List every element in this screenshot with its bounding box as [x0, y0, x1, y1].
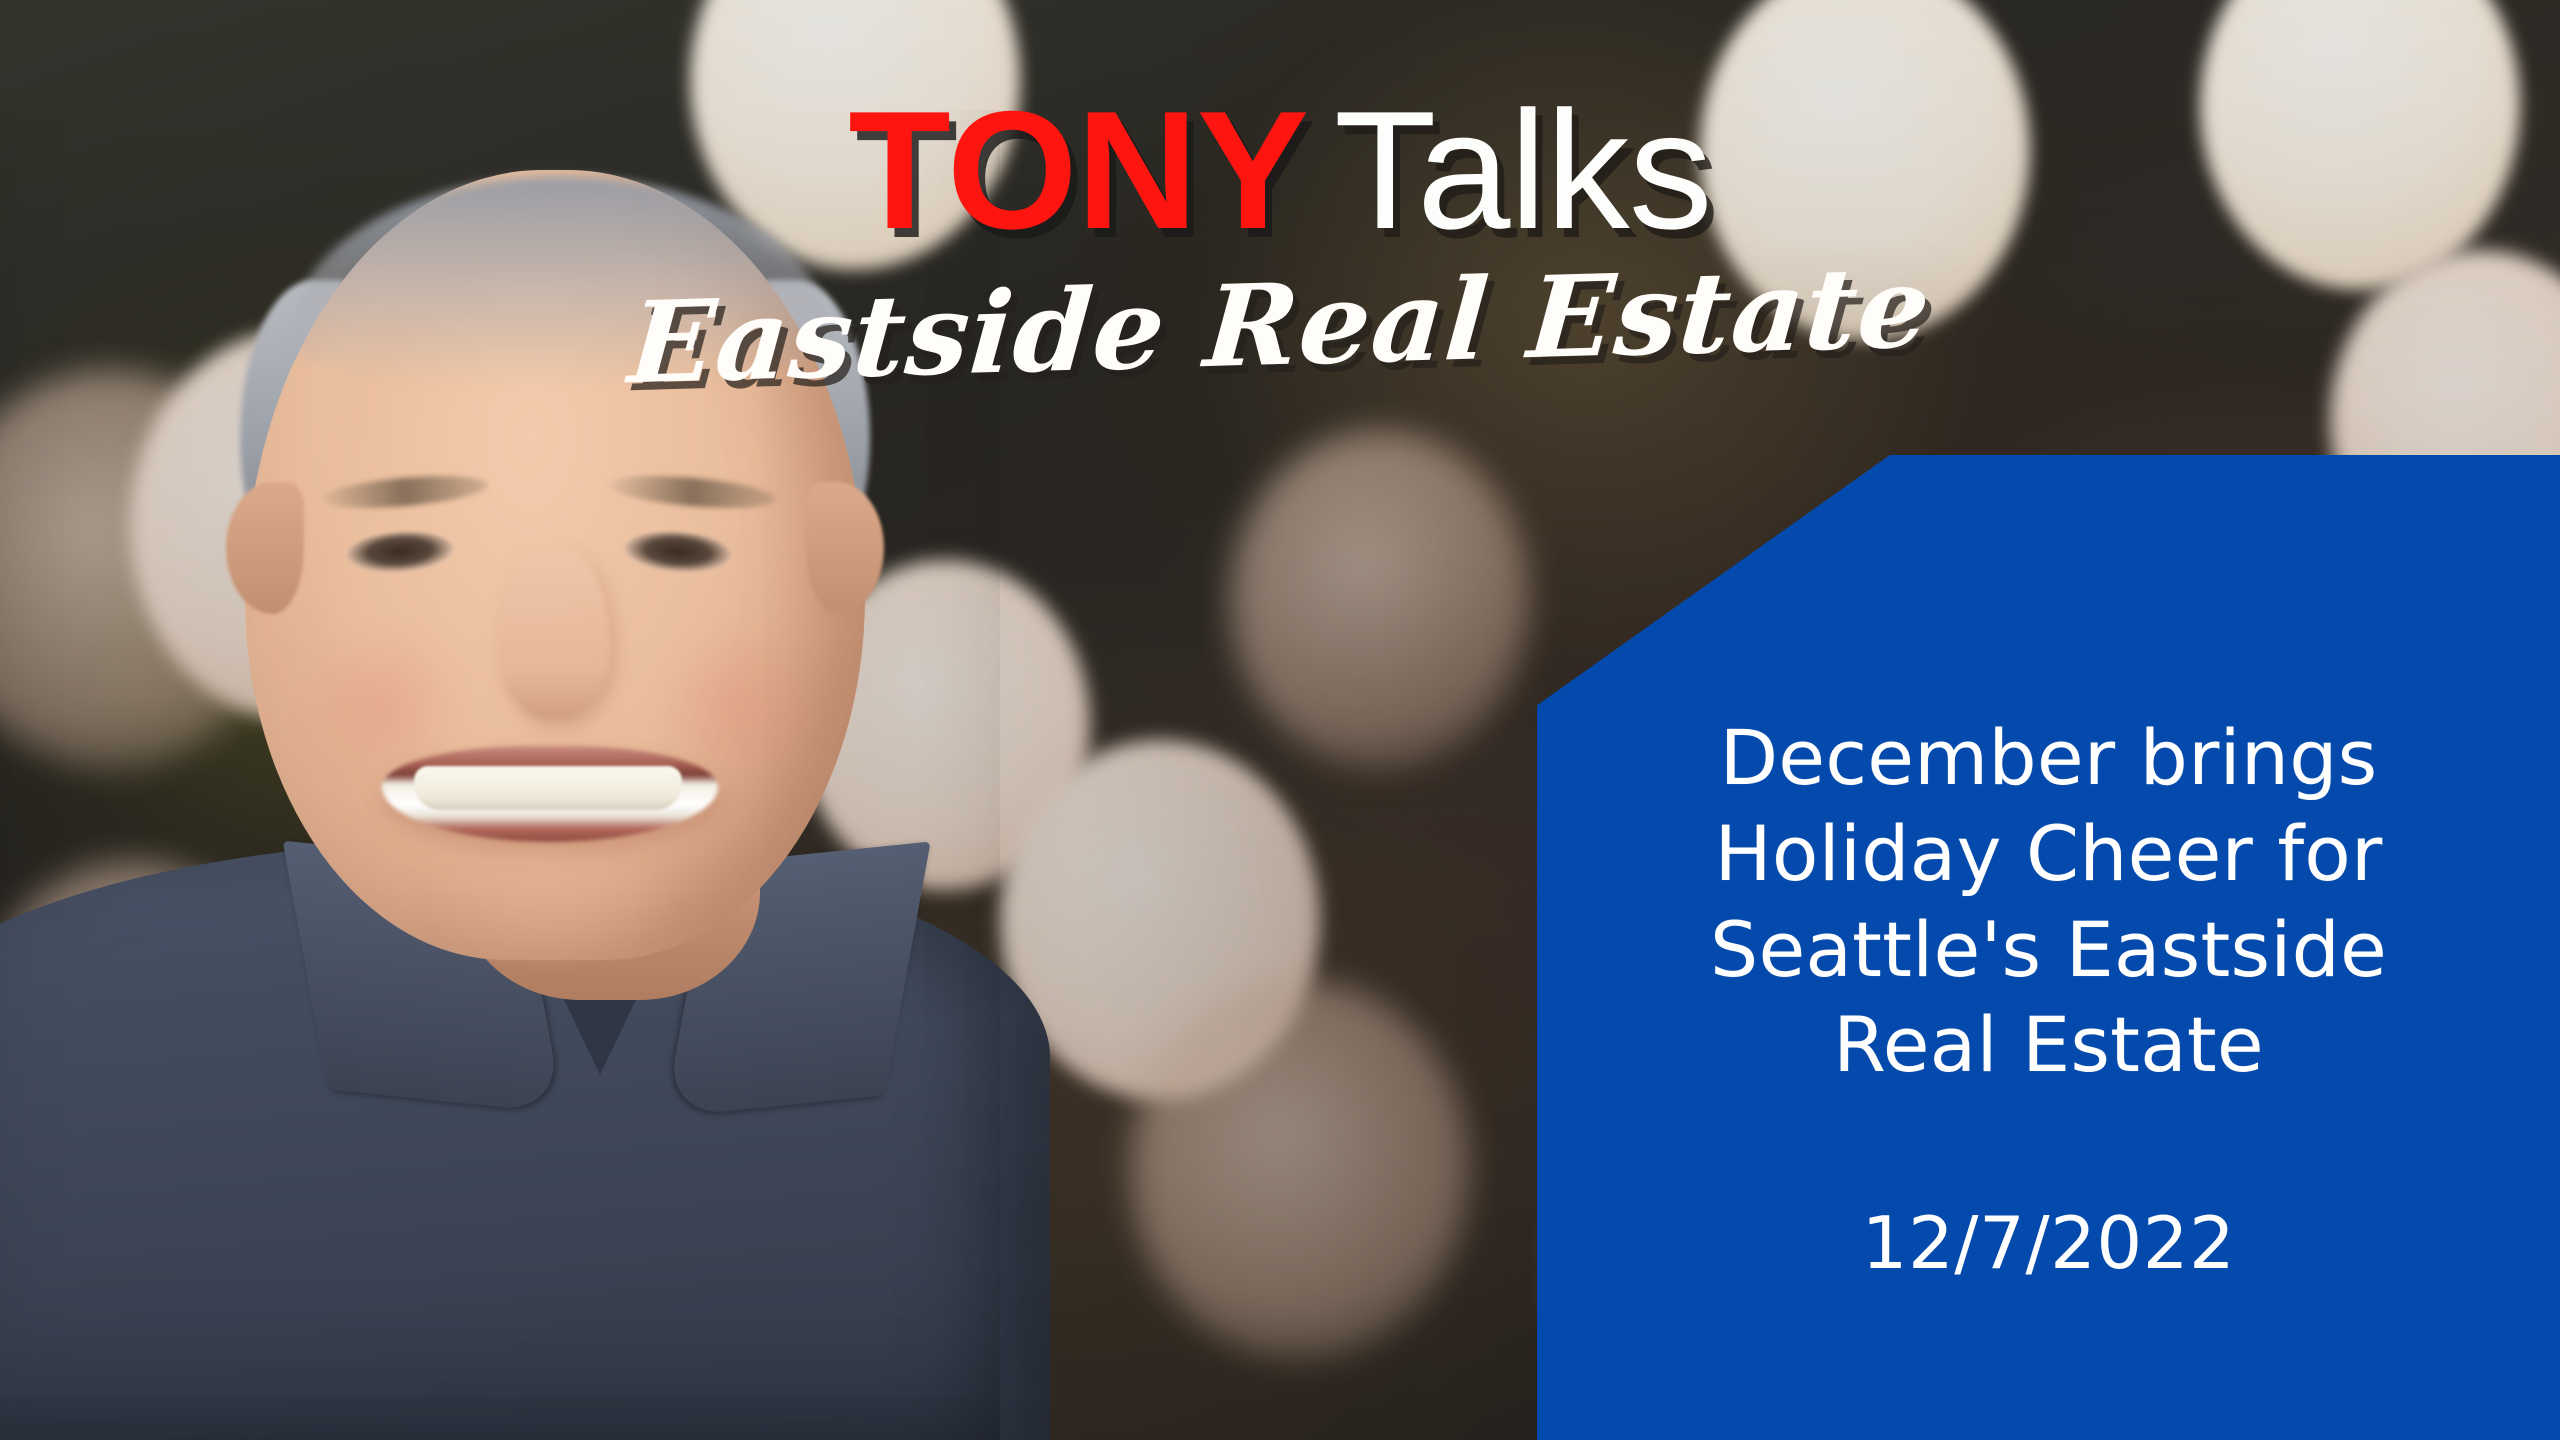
cheek-right — [652, 630, 822, 780]
headline-line-1: December brings — [1720, 713, 2378, 802]
blue-house-panel: December brings Holiday Cheer for Seattl… — [1537, 455, 2560, 1440]
nose — [498, 550, 610, 720]
panel-content: December brings Holiday Cheer for Seattl… — [1537, 710, 2560, 1440]
episode-date: 12/7/2022 — [1862, 1201, 2236, 1285]
headline-line-4: Real Estate — [1833, 1000, 2264, 1089]
episode-headline: December brings Holiday Cheer for Seattl… — [1571, 710, 2526, 1093]
ear-right — [806, 482, 884, 614]
title-lockup: TONYTalks Eastside Real Estate — [0, 86, 2560, 391]
promo-graphic: December brings Holiday Cheer for Seattl… — [0, 0, 2560, 1440]
title-word-tony: TONY — [848, 76, 1308, 264]
show-title: TONYTalks — [0, 86, 2560, 254]
chin — [420, 852, 680, 972]
title-word-talks: Talks — [1334, 76, 1712, 264]
teeth — [414, 766, 682, 810]
headline-line-2: Holiday Cheer for — [1715, 809, 2383, 898]
headline-line-3: Seattle's Eastside — [1710, 905, 2387, 994]
ear-left — [226, 482, 304, 614]
